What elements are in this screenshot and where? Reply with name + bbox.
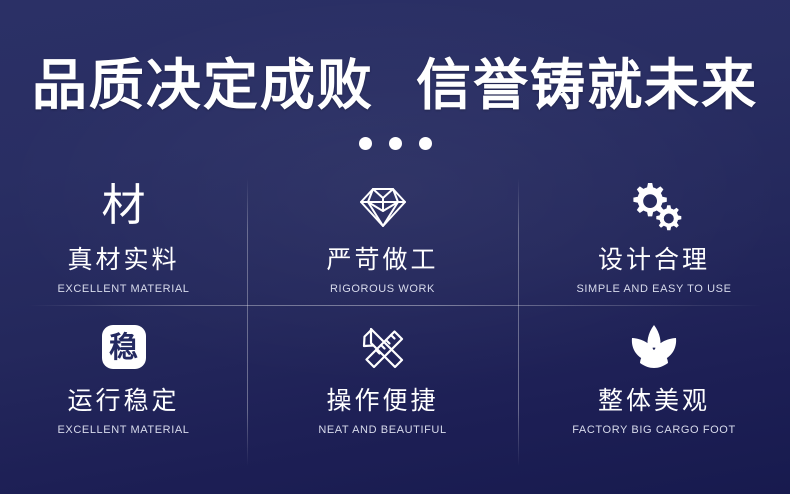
feature-icon-wrapper: 稳 — [102, 317, 146, 377]
feature-subtitle: FACTORY BIG CARGO FOOT — [572, 424, 736, 436]
feature-cell-overall-aesthetics: 整体美观 FACTORY BIG CARGO FOOT — [518, 305, 790, 440]
promo-banner: 品质决定成败 信誉铸就未来 材 真材实料 EXCELLENT MATERIAL — [0, 0, 790, 500]
dot-separator — [0, 137, 790, 150]
feature-icon-wrapper — [625, 317, 683, 377]
feature-cell-rigorous-work: 严苛做工 RIGOROUS WORK — [247, 170, 518, 305]
feature-subtitle: NEAT AND BEAUTIFUL — [318, 424, 446, 436]
feature-cell-stable-operation: 稳 运行稳定 EXCELLENT MATERIAL — [0, 305, 247, 440]
feature-grid: 材 真材实料 EXCELLENT MATERIAL 严苛做工 RIGOROUS … — [0, 170, 790, 470]
feature-title: 运行稳定 — [67, 381, 179, 417]
feature-icon-wrapper — [626, 176, 682, 236]
character-cai-icon: 材 — [102, 184, 146, 228]
grid-divider-horizontal — [28, 305, 762, 306]
feature-title: 操作便捷 — [326, 381, 438, 417]
lotus-leaf-icon — [625, 324, 683, 370]
feature-title: 严苛做工 — [326, 240, 438, 276]
gears-icon — [626, 181, 682, 231]
feature-subtitle: SIMPLE AND EASY TO USE — [576, 283, 731, 295]
feature-icon-wrapper — [357, 317, 409, 377]
feature-subtitle: EXCELLENT MATERIAL — [57, 424, 189, 436]
feature-title: 设计合理 — [598, 240, 710, 276]
grid-divider-vertical — [518, 178, 519, 466]
ruler-pencil-icon — [357, 322, 409, 372]
page-title: 品质决定成败 信誉铸就未来 — [0, 57, 790, 115]
separator-dot — [419, 137, 432, 150]
feature-icon-wrapper: 材 — [102, 176, 146, 236]
character-wen-badge-icon: 稳 — [102, 325, 146, 369]
feature-subtitle: EXCELLENT MATERIAL — [57, 283, 189, 295]
grid-divider-vertical — [247, 178, 248, 466]
feature-title: 整体美观 — [598, 381, 710, 417]
separator-dot — [359, 137, 372, 150]
feature-cell-simple-easy: 设计合理 SIMPLE AND EASY TO USE — [518, 170, 790, 305]
feature-icon-wrapper — [357, 176, 409, 236]
feature-cell-excellent-material: 材 真材实料 EXCELLENT MATERIAL — [0, 170, 247, 305]
diamond-icon — [357, 181, 409, 231]
feature-cell-neat-beautiful: 操作便捷 NEAT AND BEAUTIFUL — [247, 305, 518, 440]
feature-title: 真材实料 — [67, 240, 179, 276]
separator-dot — [389, 137, 402, 150]
feature-subtitle: RIGOROUS WORK — [330, 283, 435, 295]
